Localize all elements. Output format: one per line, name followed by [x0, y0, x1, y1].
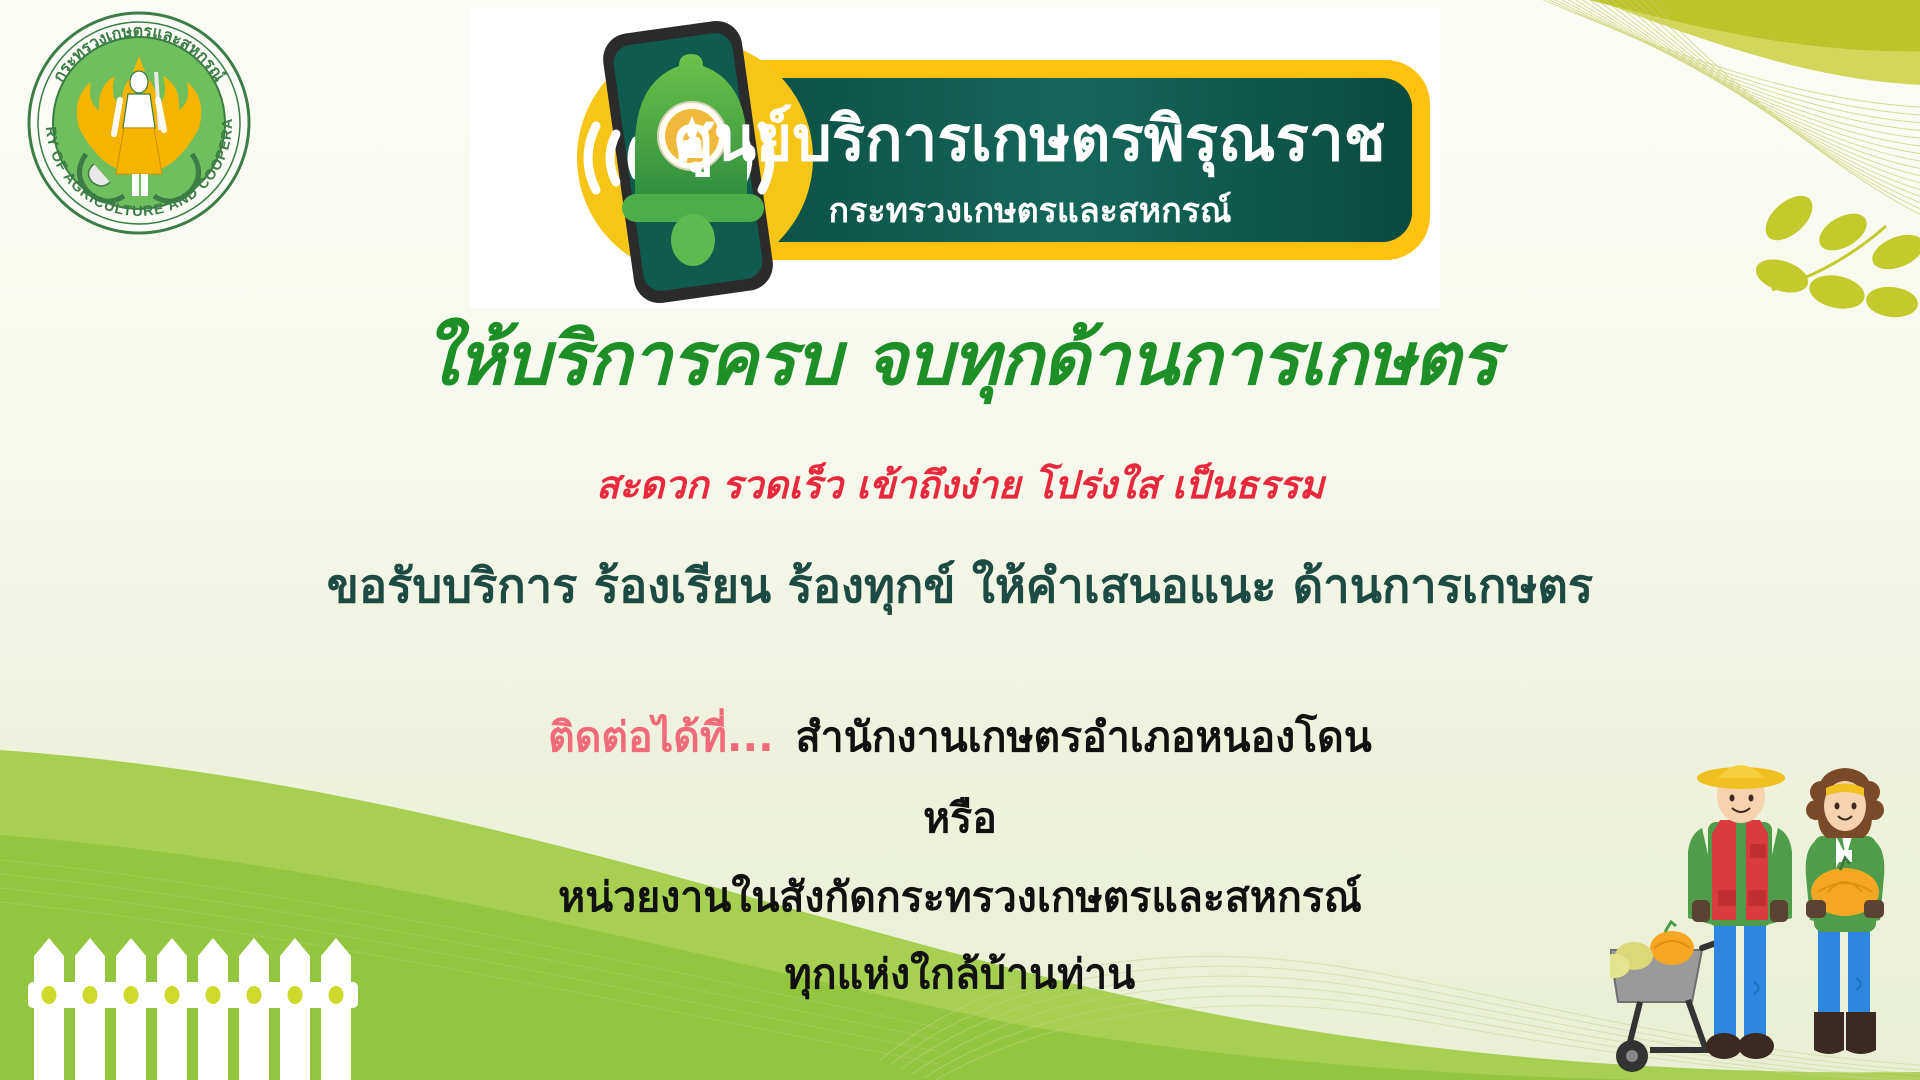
- contact-nearby-note: ทุกแห่งใกล้บ้านท่าน: [0, 942, 1920, 1007]
- line-striations: [1520, 0, 1920, 228]
- page-headline: ให้บริการครบ จบทุกด้านการเกษตร: [0, 322, 1920, 399]
- service-qualities-subline: สะดวก รวดเร็ว เข้าถึงง่าย โปร่งใส เป็นธร…: [0, 465, 1920, 507]
- contact-office-name: สำนักงานเกษตรอำเภอหนองโดน: [796, 705, 1372, 770]
- service-center-logo-banner: ศูนย์บริการเกษตรพิรุณราช กระทรวงเกษตรและ…: [470, 8, 1440, 308]
- contact-department: หน่วยงานในสังกัดกระทรวงเกษตรและสหกรณ์: [0, 865, 1920, 930]
- leaf-sprig-icon: [1752, 187, 1920, 319]
- corner-swoosh-decoration: [1400, 0, 1920, 320]
- ministry-seal: กระทรวงเกษตรและสหกรณ์ MINISTRY OF AGRICU…: [24, 8, 254, 238]
- banner-subtitle: กระทรวงเกษตรและสหกรณ์: [828, 191, 1231, 231]
- contact-or-separator: หรือ: [0, 786, 1920, 851]
- contact-label: ติดต่อได้ที่...: [548, 705, 774, 770]
- poster-canvas: กระทรวงเกษตรและสหกรณ์ MINISTRY OF AGRICU…: [0, 0, 1920, 1080]
- contact-block: ติดต่อได้ที่... สำนักงานเกษตรอำเภอหนองโด…: [0, 705, 1920, 1007]
- services-offered-line: ขอรับบริการ ร้องเรียน ร้องทุกข์ ให้คำเสน…: [0, 560, 1920, 614]
- contact-primary-row: ติดต่อได้ที่... สำนักงานเกษตรอำเภอหนองโด…: [0, 705, 1920, 770]
- banner-title: ศูนย์บริการเกษตรพิรุณราช: [674, 102, 1385, 177]
- logo-banner-graphic: ศูนย์บริการเกษตรพิรุณราช กระทรวงเกษตรและ…: [470, 8, 1440, 308]
- olive-shape: [1550, 0, 1920, 52]
